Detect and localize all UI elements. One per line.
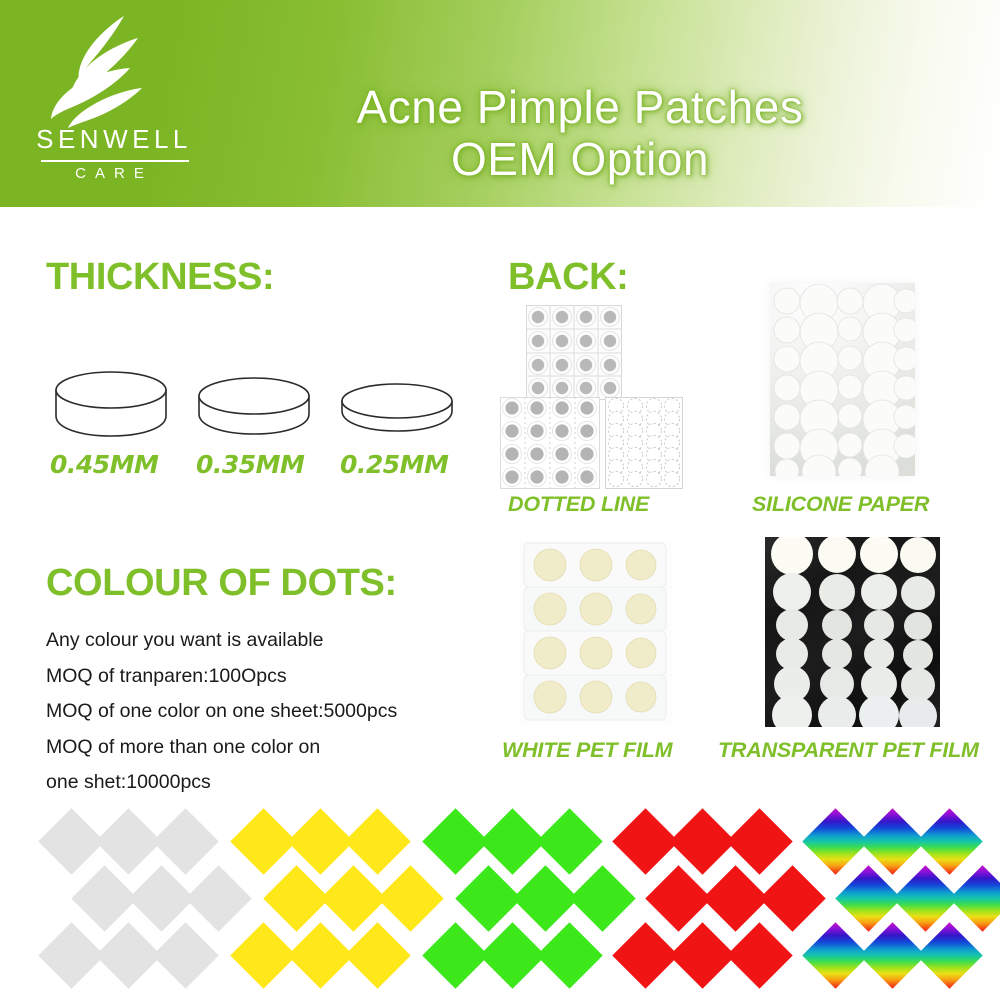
dotted-line-sheet-left [500,397,600,494]
swatch-green [432,818,600,978]
infographic-page: SENWELL CARE Acne Pimple Patches OEM Opt… [0,0,1000,1000]
brand-name: SENWELL [32,126,196,152]
swatch-diamond [726,808,792,874]
silicone-paper-photo [770,283,915,476]
dotted-line-sheet-top [526,305,622,405]
transparent-pet-film-photo [765,537,940,727]
caption-white-pet-film: WHITE PET FILM [502,738,672,763]
swatch-diamond [949,865,1000,931]
swatch-diamond [152,922,218,988]
colour-text-line: MOQ of more than one color on [46,730,476,766]
thickness-label-035: 0.35MM [196,450,304,479]
swatch-rainbow [812,818,980,978]
senwell-flame-logo-icon [46,14,166,130]
header-banner: SENWELL CARE Acne Pimple Patches OEM Opt… [0,0,1000,207]
swatch-yellow [240,818,408,978]
swatch-diamond [344,922,410,988]
thickness-label-025: 0.25MM [340,450,448,479]
page-title-line-2: OEM Option [240,134,920,186]
brand-tagline: CARE [32,166,196,181]
swatch-transparent-grey [48,818,216,978]
back-heading: BACK: [508,256,628,299]
swatch-diamond [916,922,982,988]
colour-text-line: MOQ of one color on one sheet:5000pcs [46,694,476,730]
swatch-diamond [916,808,982,874]
thickness-heading: THICKNESS: [46,256,274,299]
thickness-label-045: 0.45MM [50,450,158,479]
disc-cylinder-icon-025 [338,380,456,436]
disc-cylinder-icon-045 [52,368,170,440]
colour-text-line: one shet:10000pcs [46,765,476,801]
swatch-diamond [536,922,602,988]
page-title-line-1: Acne Pimple Patches [240,82,920,134]
colour-of-dots-text: Any colour you want is available MOQ of … [46,623,476,801]
dotted-line-sheet-right [605,397,683,494]
caption-transparent-pet-film: TRANSPARENT PET FILM [718,738,979,763]
white-pet-film-photo [520,540,673,725]
caption-dotted-line: DOTTED LINE [508,492,649,517]
caption-silicone-paper: SILICONE PAPER [752,492,929,517]
colour-of-dots-heading: COLOUR OF DOTS: [46,562,397,605]
colour-text-line: Any colour you want is available [46,623,476,659]
brand-logo: SENWELL CARE [28,14,200,192]
swatch-diamond [152,808,218,874]
disc-cylinder-icon-035 [195,374,313,438]
page-title: Acne Pimple Patches OEM Option [240,82,920,185]
swatch-diamond [344,808,410,874]
swatch-diamond [726,922,792,988]
brand-divider [41,160,189,162]
swatch-diamond [536,808,602,874]
colour-text-line: MOQ of tranparen:100Opcs [46,659,476,695]
swatch-red [622,818,790,978]
